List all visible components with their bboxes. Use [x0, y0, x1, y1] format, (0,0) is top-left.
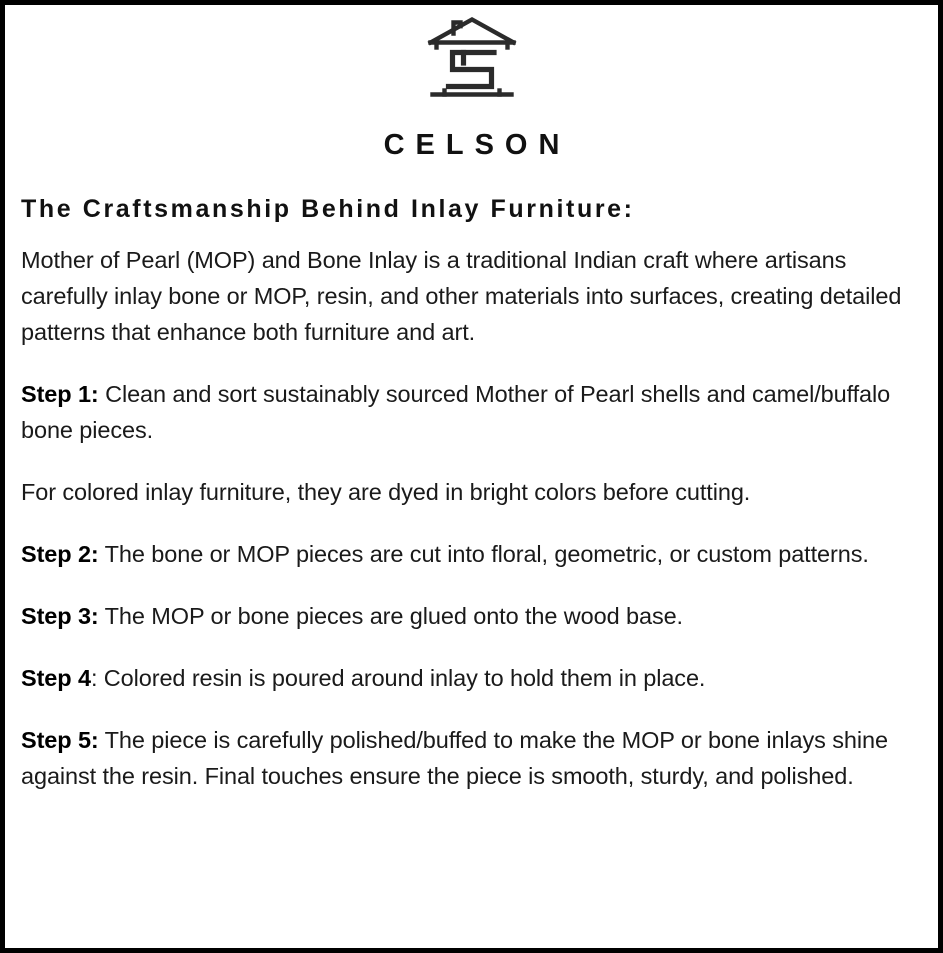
paragraph-text: The bone or MOP pieces are cut into flor…	[99, 541, 869, 567]
paragraph-lead: Step 2:	[21, 541, 99, 567]
poster-content: CELSON The Craftsmanship Behind Inlay Fu…	[5, 5, 938, 948]
paragraph-lead: Step 1:	[21, 381, 99, 407]
brand-name: CELSON	[16, 131, 927, 160]
paragraph-lead: Step 5:	[21, 727, 99, 753]
paragraph-step-2: Step 2: The bone or MOP pieces are cut i…	[21, 536, 909, 572]
paragraph-step-3: Step 3: The MOP or bone pieces are glued…	[21, 598, 909, 634]
brand-block: CELSON	[16, 13, 927, 160]
paragraph-step-4: Step 4: Colored resin is poured around i…	[21, 660, 909, 696]
paragraph-intro: Mother of Pearl (MOP) and Bone Inlay is …	[21, 242, 909, 350]
paragraph-text: Mother of Pearl (MOP) and Bone Inlay is …	[21, 247, 901, 345]
paragraph-step-1: Step 1: Clean and sort sustainably sourc…	[21, 376, 909, 448]
poster-card: CELSON The Craftsmanship Behind Inlay Fu…	[0, 0, 943, 953]
paragraph-text: The MOP or bone pieces are glued onto th…	[99, 603, 683, 629]
paragraph-text: : Colored resin is poured around inlay t…	[91, 665, 705, 691]
paragraph-lead: Step 3:	[21, 603, 99, 629]
paragraph-step-5: Step 5: The piece is carefully polished/…	[21, 722, 909, 794]
page-title: The Craftsmanship Behind Inlay Furniture…	[21, 196, 927, 224]
paragraph-text: Clean and sort sustainably sourced Mothe…	[21, 381, 890, 443]
paragraph-text: For colored inlay furniture, they are dy…	[21, 479, 750, 505]
paragraph-colored-inlay: For colored inlay furniture, they are dy…	[21, 474, 909, 510]
house-monogram-icon	[422, 13, 522, 113]
body-copy: Mother of Pearl (MOP) and Bone Inlay is …	[21, 224, 927, 794]
paragraph-lead: Step 4	[21, 665, 91, 691]
paragraph-text: The piece is carefully polished/buffed t…	[21, 727, 888, 789]
